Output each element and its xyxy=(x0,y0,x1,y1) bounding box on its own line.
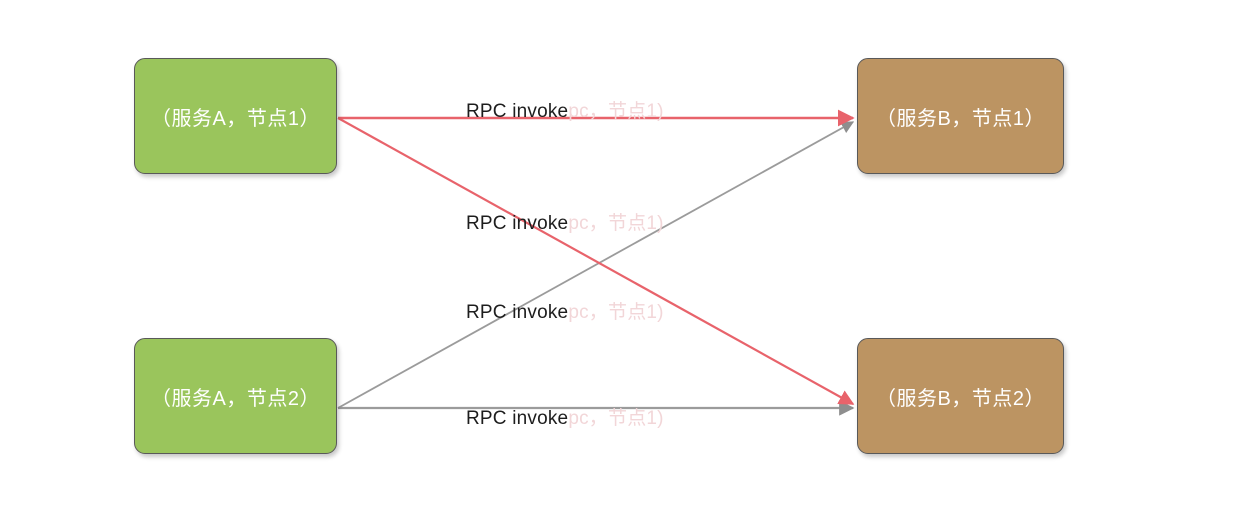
edge-label-text: RPC invoke xyxy=(466,302,568,323)
node-label: （服务B，节点1） xyxy=(876,102,1045,131)
edge-label-a1-b2: RPC invokepc，节点1) xyxy=(466,208,664,235)
edge-a1-to-b2 xyxy=(338,118,853,404)
edge-label-a2-b2: RPC invokepc，节点1) xyxy=(466,403,664,430)
node-label: （服务B，节点2） xyxy=(876,382,1045,411)
node-service-a-node1[interactable]: （服务A，节点1） xyxy=(134,58,337,174)
edge-label-a1-b1: RPC invokepc，节点1) xyxy=(466,96,664,123)
edge-label-text: RPC invoke xyxy=(466,408,568,429)
node-label: （服务A，节点1） xyxy=(151,102,320,131)
edge-label-ghost-text: pc，节点1) xyxy=(568,302,663,323)
edge-label-ghost-text: pc，节点1) xyxy=(568,101,663,122)
node-service-b-node2[interactable]: （服务B，节点2） xyxy=(857,338,1064,454)
diagram-canvas: （服务A，节点1） （服务B，节点1） （服务A，节点2） （服务B，节点2） … xyxy=(0,0,1238,532)
node-service-a-node2[interactable]: （服务A，节点2） xyxy=(134,338,337,454)
edge-label-text: RPC invoke xyxy=(466,101,568,122)
edge-a2-to-b1 xyxy=(338,122,853,408)
edge-label-ghost-text: pc，节点1) xyxy=(568,213,663,234)
node-label: （服务A，节点2） xyxy=(151,382,320,411)
edge-label-ghost-text: pc，节点1) xyxy=(568,408,663,429)
node-service-b-node1[interactable]: （服务B，节点1） xyxy=(857,58,1064,174)
edge-label-text: RPC invoke xyxy=(466,213,568,234)
edge-label-a2-b1: RPC invokepc，节点1) xyxy=(466,297,664,324)
